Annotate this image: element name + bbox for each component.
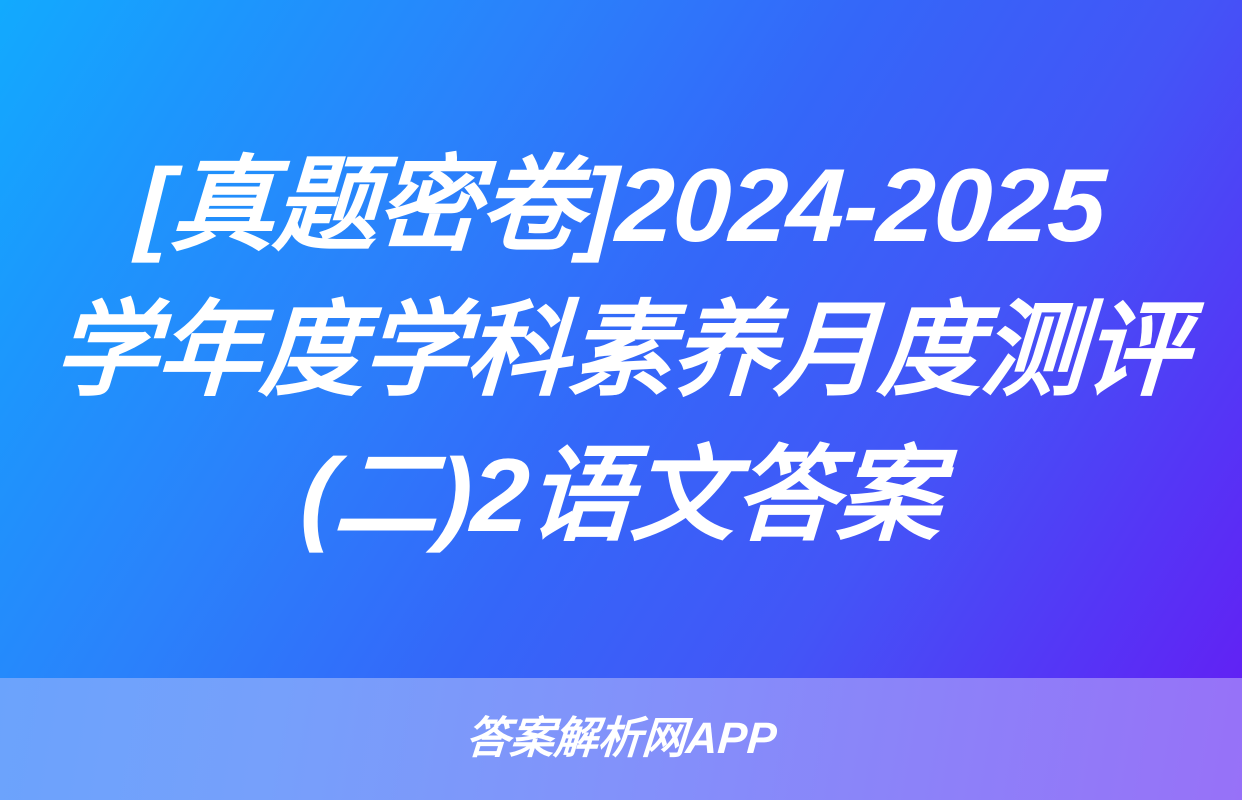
title-line-2: 学年度学科素养月度测评 xyxy=(51,279,1192,424)
title-line-3: (二)2语文答案 xyxy=(298,424,945,569)
title-block: [真题密卷]2024-2025 学年度学科素养月度测评 (二)2语文答案 xyxy=(0,0,1242,678)
footer-watermark-band: 答案解析网APP xyxy=(0,678,1242,800)
title-line-1: [真题密卷]2024-2025 xyxy=(133,134,1108,279)
watermark-text: 答案解析网APP xyxy=(464,717,778,761)
poster-cover: [真题密卷]2024-2025 学年度学科素养月度测评 (二)2语文答案 答案解… xyxy=(0,0,1242,800)
